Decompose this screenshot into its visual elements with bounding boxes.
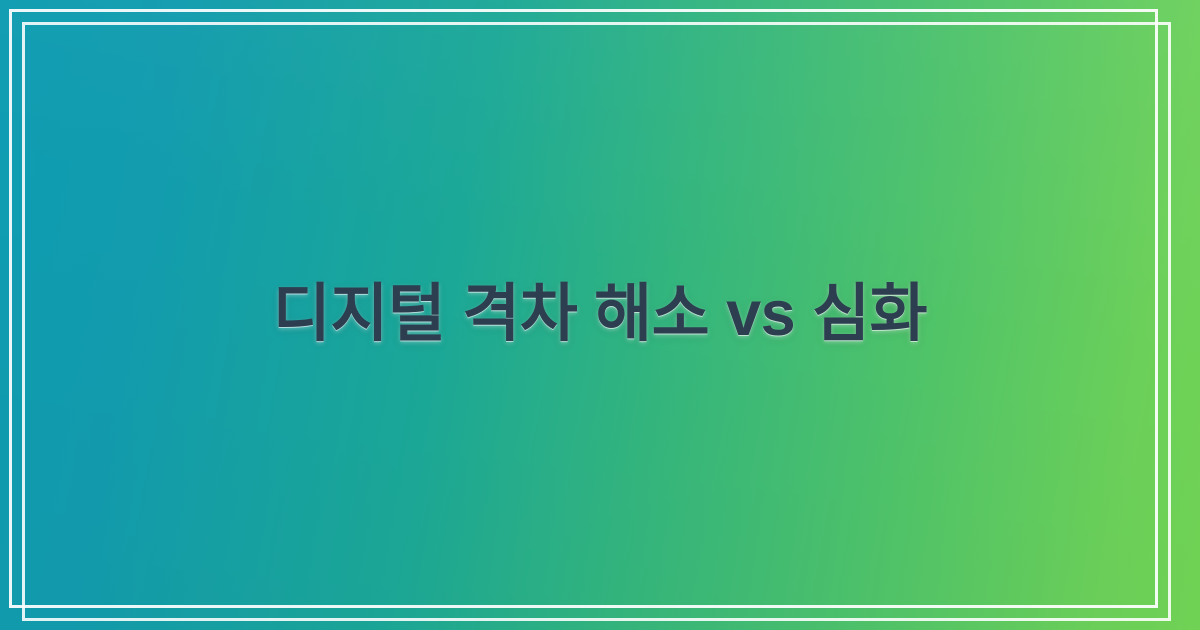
og-card: 디지털 격차 해소 vs 심화 xyxy=(0,0,1200,630)
card-content: 디지털 격차 해소 vs 심화 xyxy=(0,0,1200,630)
card-title: 디지털 격차 해소 vs 심화 xyxy=(130,278,1070,352)
